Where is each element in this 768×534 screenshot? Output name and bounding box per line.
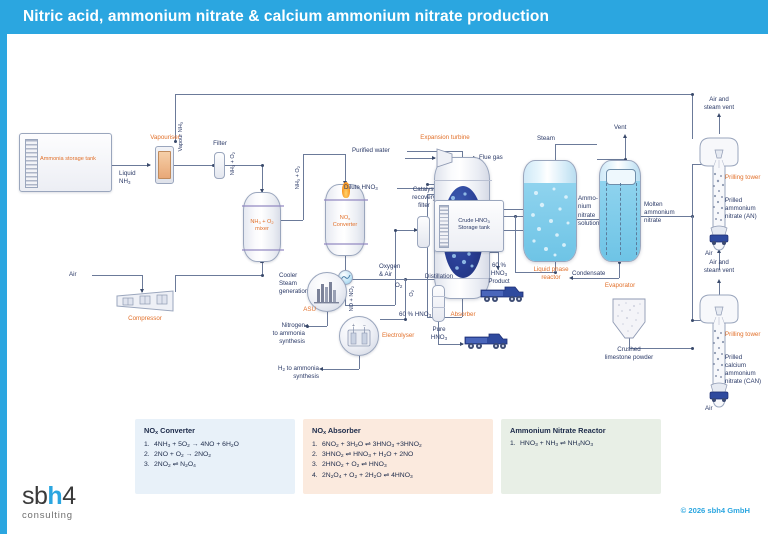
logo-wordmark: sbh4: [22, 484, 76, 509]
pipe-steam-drop: [555, 144, 556, 160]
arrow-right: [147, 163, 151, 167]
junction-dot: [691, 319, 694, 322]
hno3-60-absorber-label: 60 % HNO3: [399, 311, 431, 319]
nh3-o2-label-2: NH3 + O2: [230, 152, 236, 175]
junction-dot: [691, 93, 694, 96]
pipe-top-header: [175, 94, 692, 95]
turbine-icon: [436, 148, 453, 168]
crude-hno3-storage-tank-label: Crude HNO3Storage tank: [445, 218, 503, 232]
reaction-item: 3.2NO2 ⇌ N2O4: [144, 460, 286, 470]
junction-dot: [306, 325, 309, 328]
liquid-phase-reactor[interactable]: [523, 160, 577, 262]
reaction-item: 1.4NH3 + 5O2 → 4NO + 6H2O: [144, 440, 286, 450]
truck-60-hno3: [479, 283, 525, 310]
pipe-h2-out: [322, 369, 359, 370]
pipe-condensate: [619, 262, 620, 278]
prilling-tower-can-label: Prilling tower: [725, 331, 768, 338]
pipe-tank-to-vapouriser: [112, 165, 150, 166]
prilled-can-label: Prilledcalciumammoniumnitrate (CAN): [725, 354, 761, 386]
nitrogen-to-ammonia-label: Nitrogento ammoniasynthesis: [267, 322, 305, 346]
left-blue-rail: [0, 0, 7, 534]
dilute-hno3-label: Dilute HNO3: [344, 184, 378, 192]
arrow-left: [319, 367, 323, 371]
reaction-box-title: Ammonium Nitrate Reactor: [510, 426, 652, 435]
air-steam-vent-bottom-label: Air andsteam vent: [695, 259, 743, 275]
reactor-liquid: [524, 183, 576, 261]
nh3-o2-mixer[interactable]: NH3 + O2mixer: [243, 192, 281, 262]
air-steam-vent-top-label: Air andsteam vent: [695, 96, 743, 112]
ammonium-nitrate-solution-label: Ammo-niumnitratesolution: [578, 195, 599, 228]
electrolyser[interactable]: + −: [339, 316, 379, 356]
pipe-molten-an-down: [692, 216, 693, 320]
tank-ladder: [25, 139, 38, 188]
truck-pure-hno3: [463, 330, 509, 357]
vapouriser-label: Vapouriser: [125, 134, 205, 141]
reaction-box-an-reactor: Ammonium Nitrate Reactor 1.HNO3 + NH3 ⇌ …: [501, 419, 661, 494]
reaction-item: 3.2HNO2 + O2 ⇌ HNO3: [312, 460, 484, 470]
steam-label: Steam: [537, 135, 555, 143]
reaction-box-title: NOx Converter: [144, 426, 286, 436]
nox-converter-label: NOxConverter: [326, 215, 364, 229]
expansion-turbine-label: Expansion turbine: [403, 134, 487, 141]
pipe-molten-an-riser: [692, 164, 693, 216]
reaction-item: 4.2N2O4 + O2 + 2H2O ⇌ 4HNO3: [312, 471, 484, 481]
nh3-o2-mixer-label: NH3 + O2mixer: [244, 219, 280, 233]
pipe-to-converter: [303, 154, 345, 155]
hno3-60-product-label: 60 %HNO3Product: [475, 262, 523, 286]
evaporator-label: Evaporator: [591, 282, 649, 289]
ammonia-storage-tank[interactable]: Ammonia storage tank: [19, 133, 112, 192]
vapour-nh3-label: Vapour NH3: [178, 122, 184, 152]
pure-hno3-label: PureHNO3: [416, 326, 462, 342]
o2-asu-label: O2: [395, 282, 402, 290]
pipe-n2-out: [307, 326, 327, 327]
compressor[interactable]: [115, 289, 175, 313]
svg-text:−: −: [363, 323, 366, 329]
pipe-converter-drop: [345, 154, 346, 184]
pipe-to-mixer: [262, 165, 263, 192]
crude-hno3-storage-tank[interactable]: Crude HNO3Storage tank: [434, 200, 504, 252]
asu-label: ASU: [282, 306, 316, 313]
pipe-mixer-riser: [303, 154, 304, 220]
diagram-page: Nitric acid, ammonium nitrate & calcium …: [0, 0, 768, 534]
reaction-box-nox-converter: NOx Converter 1.4NH3 + 5O2 → 4NO + 6H2O …: [135, 419, 295, 494]
logo-tagline: consulting: [22, 510, 76, 521]
molten-an-label: Moltenammoniumnitrate: [644, 201, 675, 225]
page-title: Nitric acid, ammonium nitrate & calcium …: [23, 8, 549, 26]
air-bottom-tower-label: Air: [705, 405, 713, 413]
h2-to-ammonia-label: H2 to ammoniasynthesis: [269, 365, 319, 381]
arrow-up: [717, 279, 721, 283]
expansion-turbine[interactable]: [436, 148, 453, 168]
filter-label: Filter: [199, 140, 241, 148]
pipe-compressor-riser: [175, 275, 176, 292]
pipe-o2-asu: [347, 279, 405, 280]
pipe-vent: [625, 137, 626, 159]
oxygen-air-label: Oxygen& Air: [379, 263, 400, 279]
reaction-item: 2.3HNO2 ⇌ HNO3 + H2O + 2NO: [312, 450, 484, 460]
catalyst-recovery-filter[interactable]: [417, 216, 430, 248]
air-inlet-label: Air: [69, 271, 77, 279]
ammonia-storage-tank-label: Ammonia storage tank: [28, 156, 108, 163]
evaporator-internal: [606, 169, 636, 185]
prilling-tower-an[interactable]: [697, 134, 741, 254]
distillation-label: Distillation: [411, 273, 467, 281]
vent-label: Vent: [614, 124, 626, 132]
junction-dot: [691, 347, 694, 350]
reaction-item: 1.6NO2 + 3H2O ⇌ 3HNO3 +3HNO2: [312, 440, 484, 450]
o2-electrolyser-label: O2: [409, 290, 415, 297]
no-no2-label: NO + NO2: [349, 286, 355, 311]
vapouriser-core: [158, 151, 171, 179]
prilled-an-label: Prilledammoniumnitrate (AN): [725, 197, 757, 221]
compressor-icon: [115, 289, 175, 313]
pipe-compressor-out: [175, 275, 262, 276]
purified-water-label: Purified water: [352, 147, 390, 155]
arrow-up: [623, 134, 627, 138]
air-top-tower-label: Air: [705, 250, 713, 258]
arrow-up: [717, 113, 721, 117]
electrolyser-icon: + −: [340, 317, 378, 355]
nh3-o2-label: NH3 + O2: [295, 166, 301, 189]
junction-dot: [394, 229, 397, 232]
liquid-nh3-label: LiquidNH3: [119, 170, 136, 186]
pipe-steam: [555, 144, 597, 145]
prilling-tower-can[interactable]: [697, 291, 741, 411]
reaction-item: 2.2NO + O2 → 2NO2: [144, 450, 286, 460]
prilling-tower-an-label: Prilling tower: [725, 174, 768, 181]
pipe-mixer-out: [281, 220, 303, 221]
pipe-vent-top-tower: [719, 116, 720, 134]
pipe-vapouriser-to-filter: [174, 165, 214, 166]
junction-dot: [261, 274, 264, 277]
evaporator[interactable]: [599, 160, 641, 262]
sbh4-logo: sbh4 consulting: [22, 484, 76, 521]
reaction-box-title: NOx Absorber: [312, 426, 484, 436]
reaction-list: 1.6NO2 + 3H2O ⇌ 3HNO3 +3HNO2 2.3HNO2 ⇌ H…: [312, 440, 484, 481]
vapouriser[interactable]: [155, 146, 174, 184]
pipe-top-right-drop: [692, 94, 693, 139]
condensate-label: Condensate: [572, 270, 605, 278]
page-header: Nitric acid, ammonium nitrate & calcium …: [7, 0, 768, 34]
reaction-box-nox-absorber: NOx Absorber 1.6NO2 + 3H2O ⇌ 3HNO3 +3HNO…: [303, 419, 493, 494]
junction-dot: [261, 164, 264, 167]
crushed-limestone-label: Crushedlimestone powder: [596, 346, 662, 362]
compressor-label: Compressor: [115, 315, 175, 322]
reaction-item: 1.HNO3 + NH3 ⇌ NH4NO3: [510, 439, 652, 449]
pipe-turbine-feed: [405, 158, 435, 159]
pipe-o2-electrolyser: [380, 319, 405, 320]
pipe-air-in: [92, 275, 142, 276]
reaction-list: 1.HNO3 + NH3 ⇌ NH4NO3: [510, 439, 652, 449]
filter[interactable]: [214, 152, 225, 179]
cooler-steam-generation-label: CoolerSteamgeneration: [279, 272, 308, 296]
pipe-purified-water: [407, 151, 462, 152]
pipe-converter-to-cooler: [345, 256, 346, 270]
distillation-column[interactable]: [432, 285, 445, 322]
process-flow-canvas: Ammonia storage tank Vapouriser Filter N…: [7, 34, 768, 474]
nox-converter[interactable]: NOxConverter: [325, 184, 365, 256]
copyright-text: © 2026 sbh4 GmbH: [681, 506, 750, 515]
flue-gas-label: Flue gas: [479, 154, 503, 162]
svg-text:+: +: [352, 323, 355, 329]
crushed-limestone-hopper[interactable]: [611, 298, 647, 345]
pipe-crude-riser: [427, 194, 428, 317]
reaction-list: 1.4NH3 + 5O2 → 4NO + 6H2O 2.2NO + O2 → 2…: [144, 440, 286, 470]
